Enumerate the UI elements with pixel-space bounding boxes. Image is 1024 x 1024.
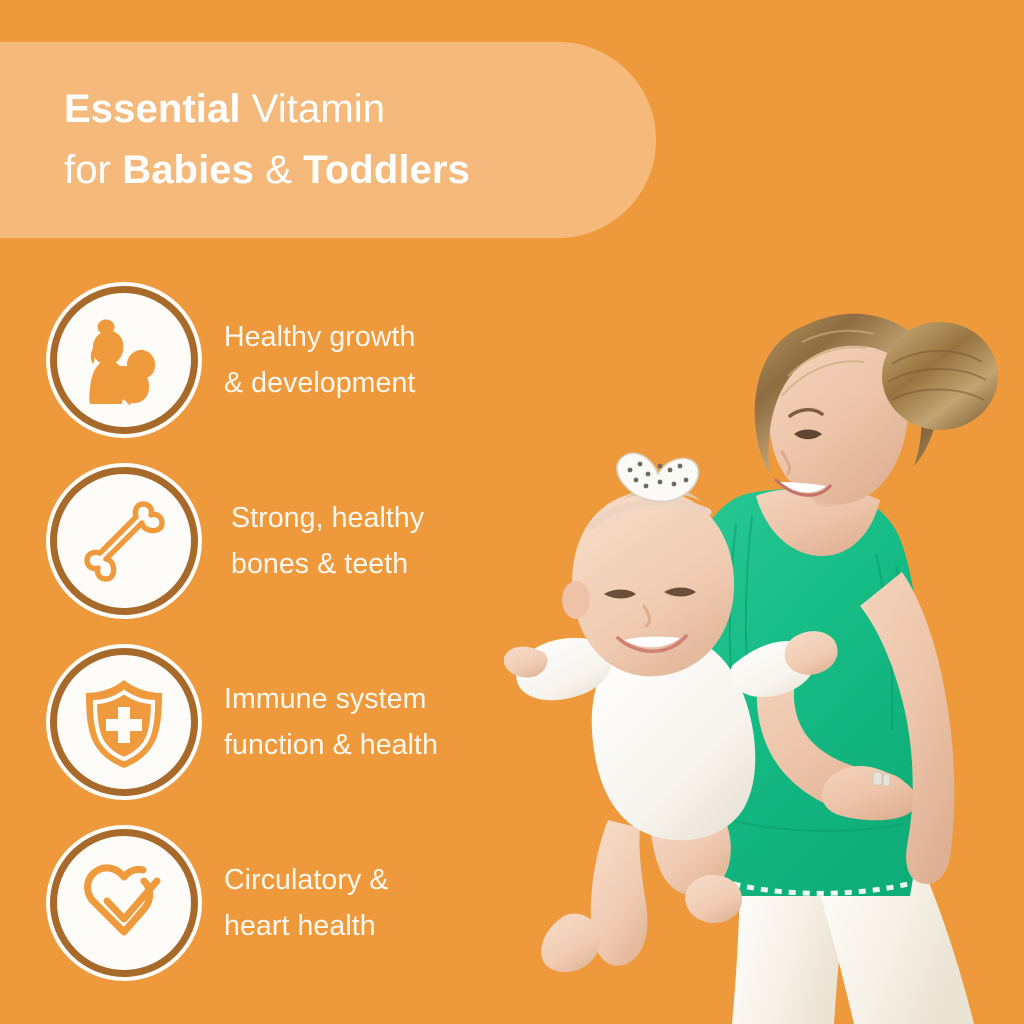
benefit-line-2: bones & teeth: [231, 541, 424, 587]
benefit-item-heart-health: Circulatory & heart health: [50, 829, 570, 977]
baby-eye-right: [664, 588, 696, 597]
mother-neck: [803, 416, 874, 507]
mother-holding-baby-icon: [50, 286, 198, 434]
benefit-line-1: Healthy growth: [224, 314, 416, 360]
benefit-label-immune-system: Immune system function & health: [198, 676, 438, 768]
mother-teeth: [780, 482, 826, 492]
mother-chest: [756, 488, 880, 556]
top-hem-trim: [720, 880, 908, 893]
headline-for: for: [64, 148, 111, 192]
headline-vitamin: Vitamin: [252, 87, 385, 131]
mother-eyebrow: [790, 410, 822, 416]
baby-nose: [644, 606, 650, 626]
baby-foot-right: [685, 875, 742, 923]
benefit-line-2: heart health: [224, 903, 388, 949]
mother-mouth: [776, 480, 830, 495]
baby-leg-left: [591, 820, 648, 966]
shield-cross-glyph: [80, 676, 168, 768]
baby-smile-fill: [624, 637, 680, 648]
heart-check-glyph: [78, 859, 170, 947]
heart-check-icon: [50, 829, 198, 977]
benefit-line-2: function & health: [224, 722, 438, 768]
mother-hair: [755, 314, 939, 474]
baby-hair: [622, 487, 702, 502]
baby-bow: [617, 453, 698, 501]
mother-nose: [782, 452, 790, 474]
mother-face: [769, 338, 908, 504]
mother-holding-baby-glyph: [78, 314, 170, 406]
mother-hand: [822, 766, 916, 820]
photo-illustration: [504, 304, 1024, 1024]
mother-eye: [794, 430, 822, 440]
poster-canvas: Essential Vitamin for Babies & Toddlers: [0, 0, 1024, 1024]
header-banner: Essential Vitamin for Babies & Toddlers: [0, 42, 656, 238]
bone-icon: [50, 467, 198, 615]
mother-green-top: [688, 489, 924, 896]
benefit-label-healthy-growth: Healthy growth & development: [198, 314, 416, 406]
bone-glyph: [79, 496, 169, 586]
mother-hair-bun: [882, 322, 998, 430]
baby-onesie: [592, 634, 756, 841]
benefit-label-bones-teeth: Strong, healthy bones & teeth: [198, 495, 424, 587]
baby-hand-right: [785, 631, 838, 675]
benefit-line-1: Immune system: [224, 676, 438, 722]
benefit-item-healthy-growth: Healthy growth & development: [50, 286, 570, 434]
benefit-line-1: Circulatory &: [224, 857, 388, 903]
headline-line-1: Essential Vitamin: [64, 79, 656, 140]
benefit-item-bones-teeth: Strong, healthy bones & teeth: [50, 467, 570, 615]
benefit-item-immune-system: Immune system function & health: [50, 648, 570, 796]
baby-eye-left: [604, 590, 636, 599]
baby-headband: [592, 502, 708, 526]
headline-toddlers: Toddlers: [303, 148, 470, 192]
mother-right-arm: [860, 572, 954, 884]
mother-ring: [873, 772, 890, 786]
benefit-line-1: Strong, healthy: [231, 495, 424, 541]
shield-medical-cross-icon: [50, 648, 198, 796]
benefits-list: Healthy growth & development: [50, 286, 570, 977]
bun-strands: [888, 351, 986, 400]
baby-head: [572, 490, 734, 676]
baby-mouth: [618, 636, 686, 651]
benefit-line-2: & development: [224, 360, 416, 406]
headline-babies: Babies: [122, 148, 254, 192]
headline-essential: Essential: [64, 87, 241, 131]
baby-leg-right: [650, 772, 731, 896]
headline-ampersand: &: [265, 148, 292, 192]
headline-line-2: for Babies & Toddlers: [64, 140, 656, 201]
benefit-label-heart-health: Circulatory & heart health: [198, 857, 388, 949]
hair-highlights: [782, 331, 874, 396]
mother-left-arm: [757, 648, 910, 818]
mother-and-baby-photo: [504, 304, 1024, 1024]
baby-sleeve-right: [730, 641, 815, 697]
mother-pants-left: [732, 860, 848, 1024]
mother-pants-right: [804, 844, 974, 1024]
top-stitching: [718, 516, 910, 831]
